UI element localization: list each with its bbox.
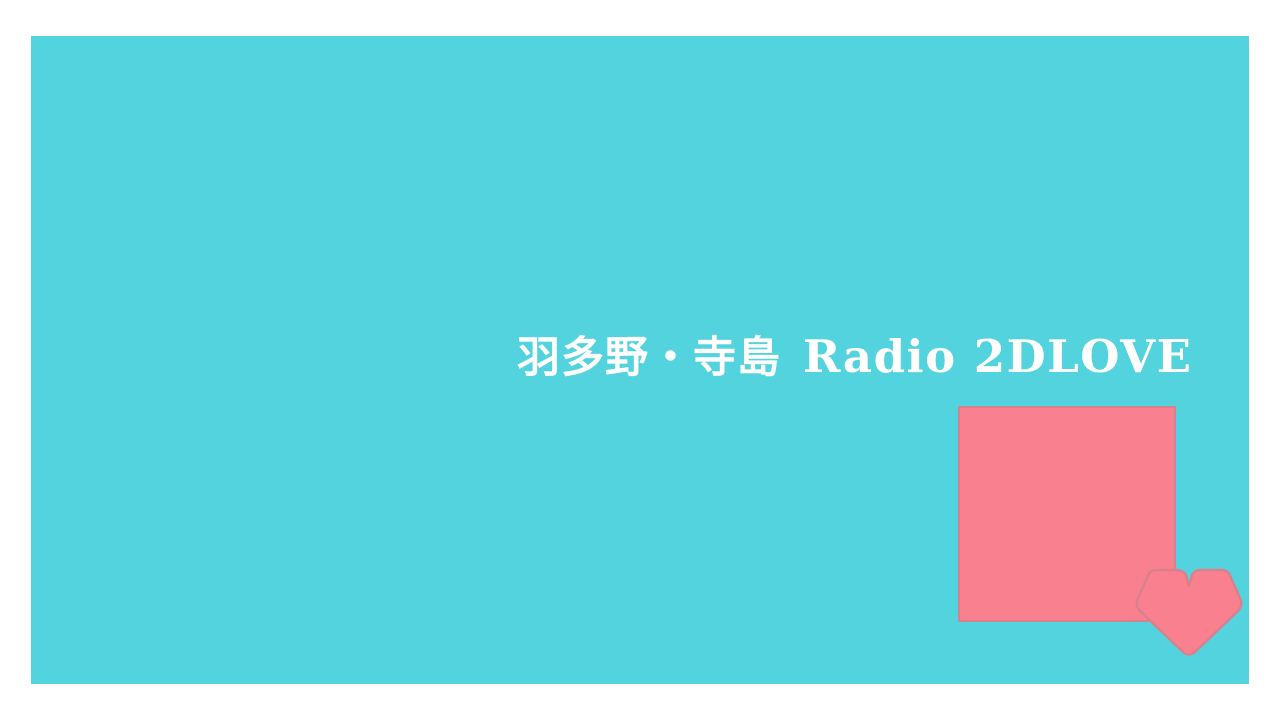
heart-icon [1133, 566, 1245, 658]
pink-heart-decoration [1133, 566, 1245, 658]
screenshot-stage: 羽多野・寺島 Radio 2DLOVE [0, 0, 1280, 720]
page-title: 羽多野・寺島 Radio 2DLOVE [517, 334, 1192, 396]
page-title-japanese: 羽多野・寺島 [517, 337, 781, 380]
page-title-latin: Radio 2DLOVE [803, 334, 1192, 379]
cyan-title-card: 羽多野・寺島 Radio 2DLOVE [31, 36, 1249, 684]
